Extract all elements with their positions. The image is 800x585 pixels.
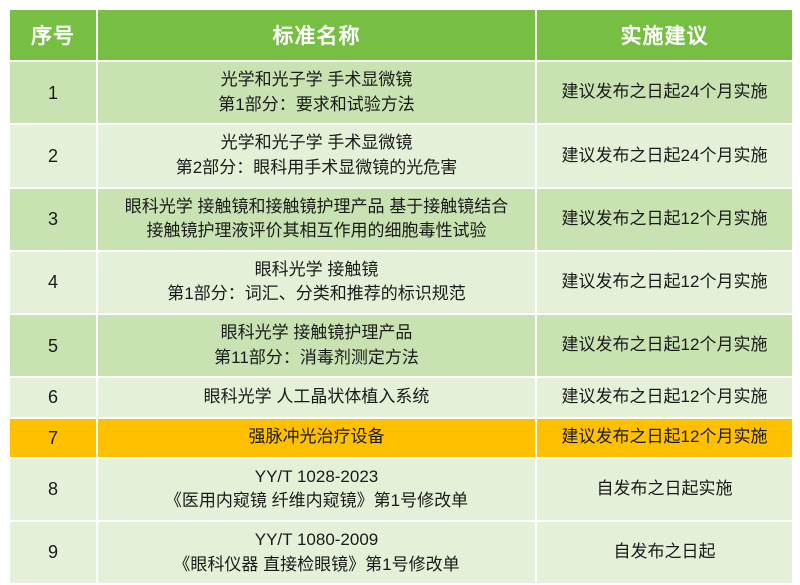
column-header-index: 序号 (10, 10, 96, 60)
cell-index: 2 (10, 125, 96, 186)
cell-implementation-advice: 建议发布之日起24个月实施 (537, 62, 792, 123)
cell-implementation-advice: 建议发布之日起12个月实施 (537, 378, 792, 416)
cell-index: 6 (10, 378, 96, 416)
table-row: 2光学和光子学 手术显微镜 第2部分：眼科用手术显微镜的光危害建议发布之日起24… (10, 125, 792, 186)
cell-index: 1 (10, 62, 96, 123)
cell-standard-name: 光学和光子学 手术显微镜 第2部分：眼科用手术显微镜的光危害 (98, 125, 535, 186)
standards-implementation-table: 序号 标准名称 实施建议 1光学和光子学 手术显微镜 第1部分：要求和试验方法建… (8, 8, 794, 585)
cell-standard-name: 眼科光学 接触镜 第1部分：词汇、分类和推荐的标识规范 (98, 252, 535, 313)
cell-implementation-advice: 建议发布之日起12个月实施 (537, 419, 792, 457)
column-header-advice: 实施建议 (537, 10, 792, 60)
column-header-name: 标准名称 (98, 10, 535, 60)
cell-implementation-advice: 建议发布之日起12个月实施 (537, 252, 792, 313)
cell-index: 9 (10, 522, 96, 583)
cell-standard-name: 眼科光学 接触镜和接触镜护理产品 基于接触镜结合 接触镜护理液评价其相互作用的细… (98, 189, 535, 250)
table-row: 6眼科光学 人工晶状体植入系统建议发布之日起12个月实施 (10, 378, 792, 416)
cell-standard-name: YY/T 1080-2009 《眼科仪器 直接检眼镜》第1号修改单 (98, 522, 535, 583)
cell-index: 4 (10, 252, 96, 313)
table-row: 1光学和光子学 手术显微镜 第1部分：要求和试验方法建议发布之日起24个月实施 (10, 62, 792, 123)
table-body: 1光学和光子学 手术显微镜 第1部分：要求和试验方法建议发布之日起24个月实施2… (10, 62, 792, 583)
cell-index: 7 (10, 419, 96, 457)
cell-implementation-advice: 建议发布之日起12个月实施 (537, 189, 792, 250)
table-row: 8YY/T 1028-2023 《医用内窥镜 纤维内窥镜》第1号修改单自发布之日… (10, 459, 792, 520)
cell-standard-name: YY/T 1028-2023 《医用内窥镜 纤维内窥镜》第1号修改单 (98, 459, 535, 520)
cell-standard-name: 光学和光子学 手术显微镜 第1部分：要求和试验方法 (98, 62, 535, 123)
cell-implementation-advice: 自发布之日起实施 (537, 459, 792, 520)
cell-index: 5 (10, 315, 96, 376)
table-row: 4眼科光学 接触镜 第1部分：词汇、分类和推荐的标识规范建议发布之日起12个月实… (10, 252, 792, 313)
cell-standard-name: 眼科光学 人工晶状体植入系统 (98, 378, 535, 416)
table-row: 3眼科光学 接触镜和接触镜护理产品 基于接触镜结合 接触镜护理液评价其相互作用的… (10, 189, 792, 250)
cell-standard-name: 眼科光学 接触镜护理产品 第11部分：消毒剂测定方法 (98, 315, 535, 376)
table-container: 序号 标准名称 实施建议 1光学和光子学 手术显微镜 第1部分：要求和试验方法建… (0, 0, 800, 564)
cell-standard-name: 强脉冲光治疗设备 (98, 419, 535, 457)
cell-index: 3 (10, 189, 96, 250)
cell-implementation-advice: 建议发布之日起24个月实施 (537, 125, 792, 186)
header-row: 序号 标准名称 实施建议 (10, 10, 792, 60)
cell-implementation-advice: 建议发布之日起12个月实施 (537, 315, 792, 376)
cell-implementation-advice: 自发布之日起 (537, 522, 792, 583)
table-header: 序号 标准名称 实施建议 (10, 10, 792, 60)
table-row: 5眼科光学 接触镜护理产品 第11部分：消毒剂测定方法建议发布之日起12个月实施 (10, 315, 792, 376)
cell-index: 8 (10, 459, 96, 520)
table-row: 7强脉冲光治疗设备建议发布之日起12个月实施 (10, 419, 792, 457)
table-row: 9YY/T 1080-2009 《眼科仪器 直接检眼镜》第1号修改单自发布之日起 (10, 522, 792, 583)
